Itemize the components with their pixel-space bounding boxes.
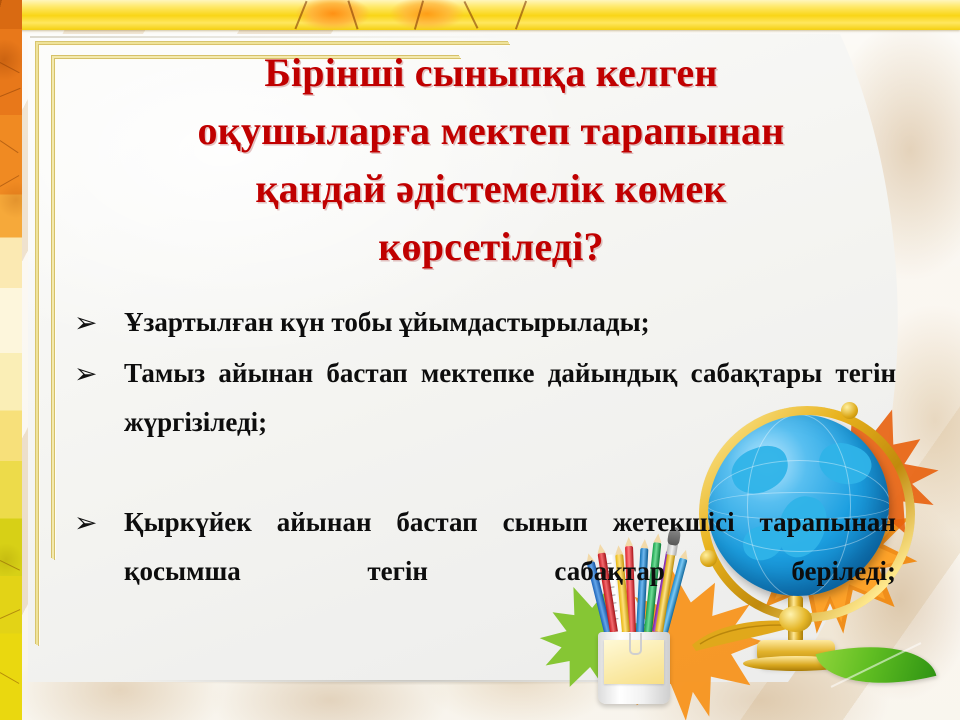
leaf-vein xyxy=(0,62,20,73)
left-autumn-leaf-strip xyxy=(0,0,22,720)
title-line-3: қандай әдістемелік көмек xyxy=(96,160,886,218)
leaf-vein xyxy=(0,560,20,571)
list-item-text: Ұзартылған күн тобы ұйымдастырылады; xyxy=(124,307,650,337)
title-line-1: Бірінші сыныпқа келген xyxy=(96,44,886,102)
top-gold-band xyxy=(0,0,960,30)
frame-shadow-line xyxy=(30,36,512,38)
card-drop-shadow xyxy=(30,680,790,688)
leaf-vein xyxy=(0,672,19,684)
list-item: ➢ Ұзартылған күн тобы ұйымдастырылады; xyxy=(66,298,896,347)
arrow-bullet-icon: ➢ xyxy=(74,298,97,347)
band-twig-5 xyxy=(515,1,527,30)
presentation-slide: Бірінші сыныпқа келген оқушыларға мектеп… xyxy=(0,0,960,720)
leaf-vein xyxy=(0,609,20,619)
list-item: ➢ Қыркүйек айынан бастап сынып жетекшісі… xyxy=(66,498,896,645)
bullet-list: ➢ Ұзартылған күн тобы ұйымдастырылады; ➢… xyxy=(66,298,896,647)
list-item-text: Қыркүйек айынан бастап сынып жетекшісі т… xyxy=(124,498,896,645)
title-line-2: оқушыларға мектеп тарапынан xyxy=(96,102,886,160)
leaf-vein xyxy=(0,88,21,97)
list-item-text: Тамыз айынан бастап мектепке дайындық са… xyxy=(124,349,896,496)
leaf-vein xyxy=(0,140,19,153)
leaf-vein xyxy=(0,175,19,187)
green-leaf-midrib xyxy=(831,642,922,688)
arrow-bullet-icon: ➢ xyxy=(74,349,97,398)
page-title: Бірінші сыныпқа келген оқушыларға мектеп… xyxy=(96,44,886,276)
list-item: ➢ Тамыз айынан бастап мектепке дайындық … xyxy=(66,349,896,496)
title-line-4: көрсетіледі? xyxy=(96,218,886,276)
arrow-bullet-icon: ➢ xyxy=(74,498,97,547)
